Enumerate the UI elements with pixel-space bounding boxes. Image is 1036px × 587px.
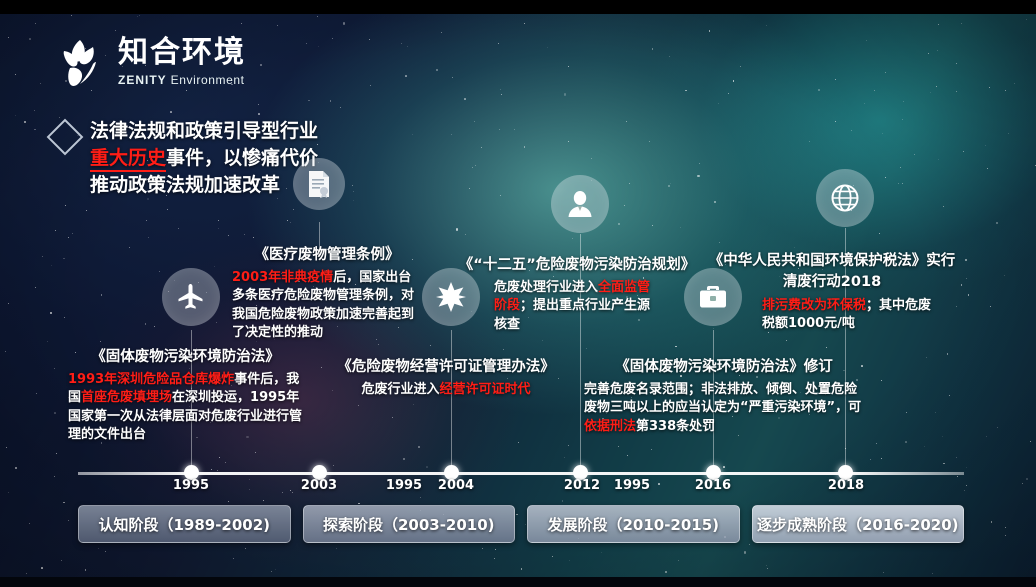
event-title: 《中华人民共和国环境保护税法》实行 [700,252,964,271]
event-block-6: 《中华人民共和国环境保护税法》实行 清废行动2018 排污费改为环保税；其中危废… [700,252,964,334]
event-body-red: 排污费改为环保税 [762,298,866,313]
event-body: 排污费改为环保税；其中危废税额1000元/吨 [762,297,934,334]
headline-line-3: 推动政策法规加速改革 [90,172,318,199]
leaf-flower-logo-icon [52,34,108,90]
timeline-year-label: 2012 [564,478,600,493]
phase-bar-cognition[interactable]: 认知阶段（1989-2002) [78,505,291,543]
phase-bar-development[interactable]: 发展阶段（2010-2015) [527,505,740,543]
timeline-year-label: 1995 [614,478,650,493]
slide-canvas: 知合环境 ZENITY Environment 法律法规和政策引导型行业 重大历… [0,0,1036,587]
certificate-document-icon [293,158,345,210]
timeline-year-label: 2003 [301,478,337,493]
timeline-year-label: 1995 [386,478,422,493]
phase-bar-maturity[interactable]: 逐步成熟阶段（2016-2020) [752,505,965,543]
brand-name-en: ZENITY Environment [118,74,246,86]
event-title: 《医疗废物管理条例》 [232,246,422,265]
event-body: 完善危废名录范围；非法排放、倾倒、处置危险废物三吨以上的应当认定为“严重污染环境… [584,381,864,436]
brand-name-en-rest: Environment [167,73,245,87]
timeline-year-label: 2018 [828,478,864,493]
event-title-secondary: 清废行动2018 [700,273,964,292]
event-title: 《“十二五”危险废物污染防治规划》 [446,256,708,275]
event-block-1: 《固体废物污染环境防治法》 1993年深圳危险品仓库爆炸事件后，我国首座危废填埋… [68,348,303,445]
bottom-black-bar [0,577,1036,587]
brand-name-cn: 知合环境 [118,38,246,68]
event-body-text: 在深圳投运， [172,390,250,405]
event-body-red: 依据刑法 [584,419,636,434]
phase-bar-group: 认知阶段（1989-2002) 探索阶段（2003-2010) 发展阶段（201… [78,505,964,543]
airplane-icon [162,268,220,326]
stem-line-star [451,330,452,472]
timeline-year-label: 2016 [695,478,731,493]
event-body-text: 事件后， [234,372,286,387]
event-body-red: 首座危废填埋场 [81,390,172,405]
event-block-4: 《“十二五”危险废物污染防治规划》 危废处理行业进入全面监管阶段；提出重点行业产… [446,256,708,334]
timeline-axis [78,472,964,475]
event-block-5: 《固体废物污染环境防治法》修订 完善危废名录范围；非法排放、倾倒、处置危险废物三… [584,358,864,436]
globe-icon [816,169,874,227]
event-body: 危废行业进入经营许可证时代 [330,381,562,399]
brand-logo: 知合环境 ZENITY Environment [52,34,246,90]
event-body-red: 经营许可证时代 [440,382,531,397]
event-body: 危废处理行业进入全面监管阶段；提出重点行业产生源核查 [494,279,654,334]
event-body-text: 危废处理行业进入 [494,280,598,295]
event-block-2: 《医疗废物管理条例》 2003年非典疫情后，国家出台多条医疗危险废物管理条例，对… [232,246,422,343]
top-black-bar [0,0,1036,14]
event-body-red: 2003年非典疫情 [232,270,333,285]
brand-name-en-bold: ZENITY [118,73,167,87]
headline-line-2: 重大历史事件，以惨痛代价 [90,145,318,172]
event-title: 《固体废物污染环境防治法》 [68,348,303,367]
phase-bar-exploration[interactable]: 探索阶段（2003-2010) [303,505,516,543]
event-title: 《危险废物经营许可证管理办法》 [330,358,562,377]
event-body: 1993年深圳危险品仓库爆炸事件后，我国首座危废填埋场在深圳投运，1995年国家… [68,371,303,445]
event-title: 《固体废物污染环境防治法》修订 [584,358,864,377]
event-body-text: 完善危废名录范围；非法排放、倾倒、处置危险废物三吨以上的应当认定为“严重污染环境… [584,382,861,415]
timeline-year-label: 2004 [438,478,474,493]
headline-block: 法律法规和政策引导型行业 重大历史事件，以惨痛代价 推动政策法规加速改革 [52,118,318,199]
event-body: 2003年非典疫情后，国家出台多条医疗危险废物管理条例，对我国危险废物政策加速完… [232,269,422,343]
headline-line-1: 法律法规和政策引导型行业 [90,118,318,145]
headline-line-2-rest: 事件，以惨痛代价 [166,147,318,169]
diamond-bullet-icon [47,119,84,156]
event-body-red: 1993年深圳危险品仓库爆炸 [68,372,234,387]
timeline-year-label: 1995 [173,478,209,493]
event-body-text: 第338条处罚 [636,419,715,434]
person-icon [551,175,609,233]
headline-text: 法律法规和政策引导型行业 重大历史事件，以惨痛代价 推动政策法规加速改革 [90,118,318,199]
headline-red-emphasis: 重大历史 [90,147,166,172]
event-block-3: 《危险废物经营许可证管理办法》 危废行业进入经营许可证时代 [330,358,562,399]
event-body-text: 危废行业进入 [361,382,439,397]
